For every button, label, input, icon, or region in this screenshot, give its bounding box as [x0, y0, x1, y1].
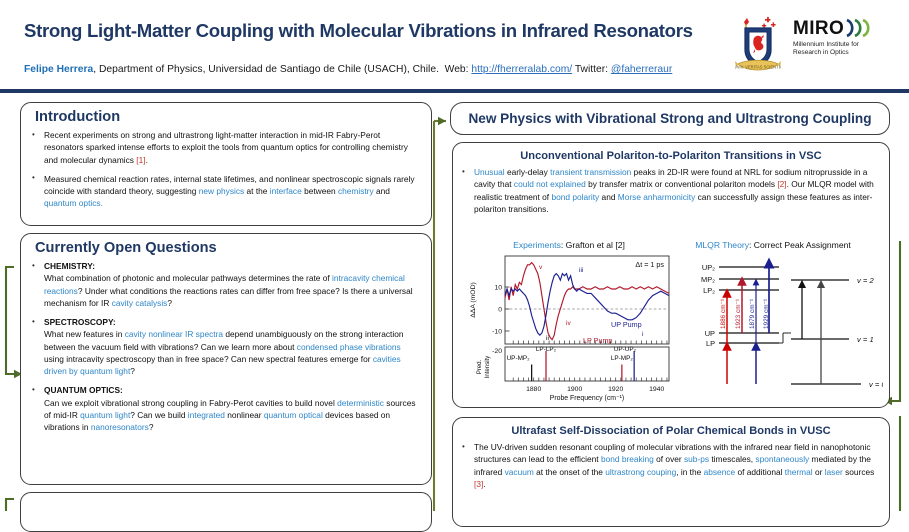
- bullet-item: The UV-driven sudden resonant coupling o…: [455, 441, 875, 490]
- bullet-text: ?: [130, 366, 135, 376]
- reference-marker: [1]: [136, 155, 145, 165]
- bullet-subheading: CHEMISTRY:: [44, 261, 95, 271]
- author-name: Felipe Herrera: [24, 64, 93, 75]
- stick-label: LP-MP₂: [611, 355, 634, 362]
- miro-logo: MIRO Millennium Institute for Research i…: [793, 18, 901, 74]
- header-divider: [0, 89, 909, 93]
- bullet-text: of over: [654, 454, 684, 464]
- website-link[interactable]: http://fherreralab.com/: [471, 64, 572, 75]
- panel-vsc: Unconventional Polariton-to-Polariton Tr…: [452, 142, 890, 408]
- bullet-subheading: SPECTROSCOPY:: [44, 317, 116, 327]
- highlight-text: sub-ps: [684, 454, 709, 464]
- highlight-text: could not explained: [514, 179, 586, 189]
- introduction-title: Introduction: [35, 109, 431, 125]
- highlight-text: vacuum: [505, 467, 534, 477]
- highlight-text: interface: [270, 186, 302, 196]
- x-tick-label: 1900: [567, 386, 582, 393]
- bullet-item: Recent experiments on strong and ultrast…: [25, 129, 418, 166]
- highlight-text: new physics: [199, 186, 244, 196]
- annot-lp-pump: LP Pump: [583, 336, 612, 345]
- highlight-text: Morse anharmonicity: [618, 192, 695, 202]
- highlight-text: ultrastrong couping: [605, 467, 676, 477]
- panel-open-questions: Currently Open Questions CHEMISTRY:What …: [20, 233, 432, 485]
- ytick-neg20: -20: [492, 348, 502, 355]
- poster-header: Strong Light-Matter Coupling with Molecu…: [0, 0, 909, 91]
- introduction-bullets: Recent experiments on strong and ultrast…: [25, 129, 418, 210]
- transition-label-1879: 1879 cm⁻¹: [749, 299, 756, 329]
- twitter-handle-link[interactable]: @faherreraur: [611, 64, 672, 75]
- ytick-0: 0: [498, 307, 502, 314]
- highlight-text: absence: [704, 467, 736, 477]
- miro-swoosh-icon: [845, 18, 875, 38]
- stick-ylabel-1: Pred.: [476, 359, 483, 374]
- open-questions-bullets: CHEMISTRY:What combination of photonic a…: [25, 260, 418, 433]
- bullet-text: between: [302, 186, 338, 196]
- panel-left-bottom: [20, 492, 432, 532]
- bullet-text: using intracavity spectroscopy than in f…: [44, 354, 373, 364]
- highlight-text: cavity catalysis: [112, 298, 168, 308]
- banner-title: New Physics with Vibrational Strong and …: [451, 111, 889, 126]
- vsc-title: Unconventional Polariton-to-Polariton Tr…: [453, 150, 889, 162]
- stick-label: LP-LP₂: [536, 346, 557, 353]
- bullet-text: nonlinear: [225, 410, 264, 420]
- svg-text:MLQR Theory: Correct Peak Assi: MLQR Theory: Correct Peak Assignment: [695, 240, 851, 250]
- highlight-text: transient transmission: [550, 167, 631, 177]
- bullet-text: , in the: [676, 467, 703, 477]
- level-label-lp2: LP₂: [703, 286, 715, 295]
- highlight-text: quantum light: [80, 410, 130, 420]
- highlight-text: chemistry: [338, 186, 374, 196]
- fig-left-caption-key: Experiments: [513, 240, 561, 250]
- highlight-text: laser: [825, 467, 843, 477]
- web-label: Web:: [445, 64, 469, 75]
- bullet-text: of additional: [735, 467, 785, 477]
- fig-right-caption-key: MLQR Theory: [695, 240, 750, 250]
- arrowhead-banner: [438, 117, 446, 125]
- highlight-text: bond polarity: [551, 192, 599, 202]
- bullet-text: Can we exploit vibrational strong coupli…: [44, 398, 337, 408]
- bullet-text: ?: [149, 422, 154, 432]
- bullet-text: and: [374, 186, 390, 196]
- highlight-text: quantum optics.: [44, 198, 103, 208]
- open-questions-title: Currently Open Questions: [35, 240, 431, 256]
- bullet-item: Measured chemical reaction rates, intern…: [25, 173, 418, 210]
- svg-text:Experiments: Grafton et al [2]: Experiments: Grafton et al [2]: [513, 240, 625, 250]
- twitter-label: Twitter:: [575, 64, 608, 75]
- vib-label-v0: v = 0: [869, 380, 883, 389]
- bullet-text: at the onset of the: [534, 467, 605, 477]
- bullet-text: .: [483, 479, 485, 489]
- vib-label-v2: v = 2: [857, 276, 874, 285]
- reference-marker: [3]: [474, 479, 483, 489]
- vib-label-v1: v = 1: [857, 335, 874, 344]
- bullet-text: timescales,: [709, 454, 755, 464]
- usach-crest-logo: UNIV. VERITAS SCIENTIA: [735, 14, 781, 78]
- vsc-bullets: Unusual early-delay transient transmissi…: [455, 166, 877, 215]
- affiliation-text: , Department of Physics, Universidad de …: [93, 64, 439, 75]
- energy-level-diagram: UP₂ MP₂ LP₂ UP LP: [701, 263, 883, 389]
- highlight-text: condensed phase vibrations: [297, 342, 401, 352]
- bullet-item: Unusual early-delay transient transmissi…: [455, 166, 877, 215]
- figure-svg: Experiments: Grafton et al [2] MLQR Theo…: [461, 239, 883, 403]
- spectra-plot: 10 0 -10 -20 ΔΔA (mOD) Δt = 1 ps UP Pump…: [470, 256, 669, 402]
- level-label-up: UP: [705, 329, 715, 338]
- bullet-text: at the: [244, 186, 270, 196]
- y-axis-label: ΔΔA (mOD): [470, 282, 477, 318]
- stick-label: UP-UP₂: [614, 346, 637, 353]
- highlight-text: cavity nonlinear IR spectra: [125, 329, 223, 339]
- stick-label: UP-MP₂: [507, 355, 531, 362]
- fig-left-caption-rest: : Grafton et al [2]: [561, 240, 625, 250]
- miro-subtitle-line-1: Millennium Institute for: [793, 41, 901, 49]
- bullet-text: early-delay: [505, 167, 550, 177]
- highlight-text: bond breaking: [601, 454, 654, 464]
- level-label-up2: UP₂: [702, 263, 715, 272]
- highlight-text: thermal: [785, 467, 813, 477]
- annot-iv: iv: [566, 320, 571, 327]
- bullet-text: sources: [843, 467, 875, 477]
- bullet-item: SPECTROSCOPY:What new features in cavity…: [25, 316, 418, 377]
- highlight-text: integrated: [188, 410, 225, 420]
- transition-label-1886: 1886 cm⁻¹: [720, 299, 727, 329]
- miro-subtitle-line-2: Research in Optics: [793, 49, 901, 57]
- highlight-text: spontaneously: [755, 454, 809, 464]
- bullet-text: What new features in: [44, 329, 125, 339]
- reference-marker: [2]: [777, 179, 786, 189]
- svg-text:UNIV. VERITAS SCIENTIA: UNIV. VERITAS SCIENTIA: [735, 64, 781, 69]
- page-title: Strong Light-Matter Coupling with Molecu…: [24, 20, 724, 42]
- annot-delta-t: Δt = 1 ps: [635, 260, 664, 269]
- x-tick-label: 1880: [526, 386, 541, 393]
- level-label-mp2: MP₂: [701, 275, 715, 284]
- level-label-lp: LP: [706, 339, 715, 348]
- vusc-bullets: The UV-driven sudden resonant coupling o…: [455, 441, 875, 490]
- highlight-text: Unusual: [474, 167, 505, 177]
- miro-wordmark: MIRO: [793, 19, 844, 38]
- bullet-text: or: [813, 467, 825, 477]
- bullet-text: and: [599, 192, 618, 202]
- bullet-text: ? Under what conditions the reactions ra…: [44, 286, 413, 308]
- bullet-text: What combination of photonic and molecul…: [44, 273, 332, 283]
- x-tick-label: 1920: [608, 386, 623, 393]
- highlight-text: quantum optical: [264, 410, 323, 420]
- annot-up-pump: UP Pump: [611, 320, 642, 329]
- bullet-item: QUANTUM OPTICS:Can we exploit vibrationa…: [25, 384, 418, 433]
- panel-introduction: Introduction Recent experiments on stron…: [20, 102, 432, 226]
- bullet-text: Recent experiments on strong and ultrast…: [44, 130, 408, 165]
- bullet-text: by transfer matrix or conventional polar…: [586, 179, 778, 189]
- transition-label-1923: 1923 cm⁻¹: [735, 299, 742, 329]
- transition-label-1929: 1929 cm⁻¹: [763, 299, 770, 329]
- fig-right-caption-rest: : Correct Peak Assignment: [749, 240, 851, 250]
- bullet-text: ? Can we build: [130, 410, 188, 420]
- highlight-text: deterministic: [337, 398, 384, 408]
- vusc-title: Ultrafast Self-Dissociation of Polar Che…: [453, 425, 889, 437]
- bullet-text: .: [146, 155, 148, 165]
- ytick-neg10: -10: [492, 329, 502, 336]
- bullet-text: ?: [167, 298, 172, 308]
- author-affiliation-line: Felipe Herrera, Department of Physics, U…: [24, 64, 734, 75]
- panel-banner-new-physics: New Physics with Vibrational Strong and …: [450, 102, 890, 135]
- ytick-10: 10: [494, 285, 502, 292]
- vsc-figure: Experiments: Grafton et al [2] MLQR Theo…: [461, 239, 881, 401]
- x-axis-label: Probe Frequency (cm⁻¹): [550, 395, 624, 402]
- annot-iii: iii: [579, 267, 584, 274]
- highlight-text: nanoresonators: [91, 422, 149, 432]
- bullet-subheading: QUANTUM OPTICS:: [44, 385, 123, 395]
- bullet-item: CHEMISTRY:What combination of photonic a…: [25, 260, 418, 309]
- x-tick-label: 1940: [649, 386, 664, 393]
- stick-ylabel-2: Intensity: [484, 355, 491, 379]
